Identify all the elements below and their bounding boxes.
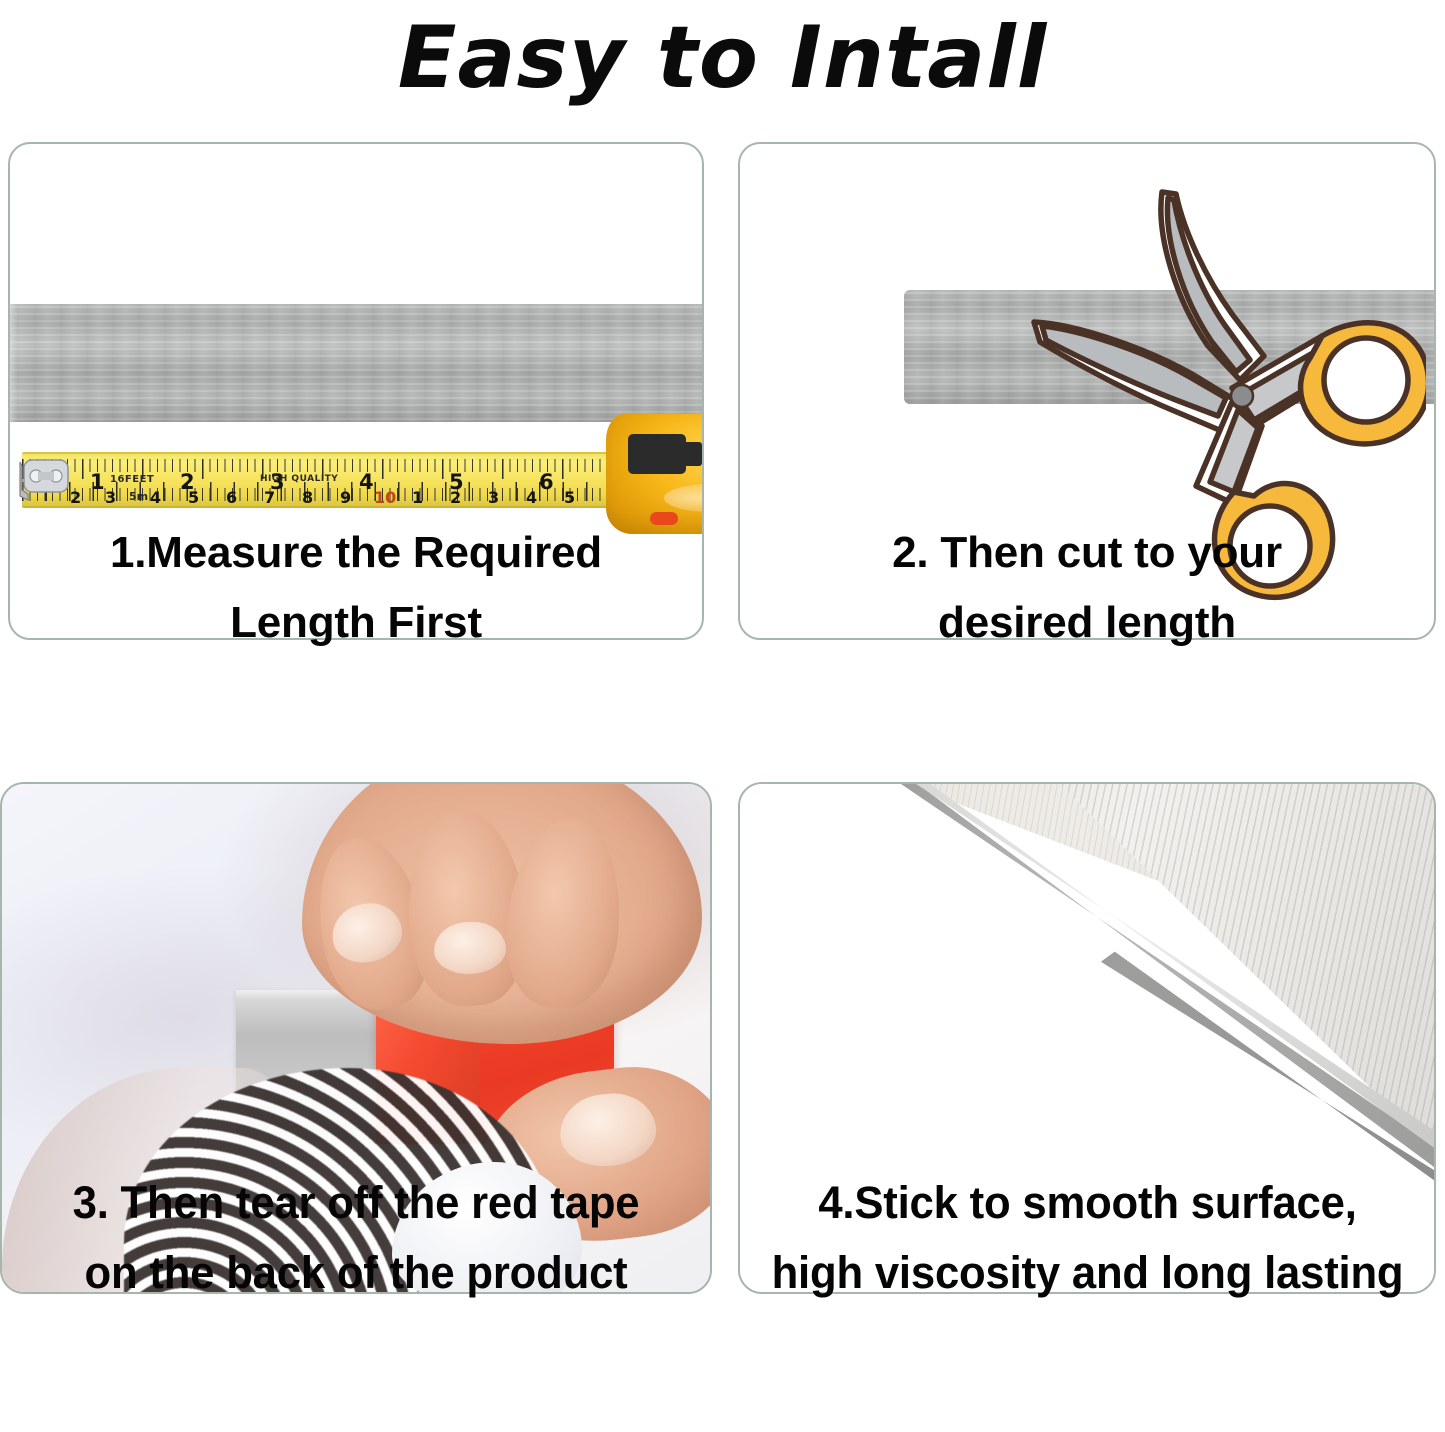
tape-measure-blade: 1 2 3 4 5 6 2 3 4 5 6 7 8 [22, 448, 622, 510]
tape-cm-3: 5 [188, 488, 199, 507]
tape-cm-2: 4 [150, 488, 161, 507]
tape-quality-label: HIGH QUALITY [260, 474, 338, 484]
caption-line: 4.Stick to smooth surface, [741, 1168, 1435, 1238]
tape-cm-12: 4 [526, 488, 537, 507]
tape-hook-icon [16, 450, 74, 506]
tape-lock-button-icon [628, 434, 686, 474]
caption-line: high viscosity and long lasting [741, 1238, 1435, 1308]
page-title: Easy to Intall [0, 2, 1445, 114]
caption-line: 1.Measure the Required [8, 518, 704, 588]
caption-line: 2. Then cut to your [738, 518, 1436, 588]
tape-cm-13: 5 [564, 488, 575, 507]
tape-cm-4: 6 [226, 488, 237, 507]
tape-cm-10: 2 [450, 488, 461, 507]
tape-feet-label: 16FEET [110, 474, 154, 485]
tape-case-sticker [664, 484, 704, 512]
tape-metric-label: 5m [129, 490, 148, 503]
tape-cm-6: 8 [302, 488, 313, 507]
tape-cm-11: 3 [488, 488, 499, 507]
step-4-caption: 4.Stick to smooth surface, high viscosit… [730, 1168, 1445, 1308]
tape-cm-numbers: 2 3 4 5 6 7 8 9 10 1 2 3 4 5 [22, 488, 622, 508]
caption-line: 3. Then tear off the red tape [11, 1168, 702, 1238]
step-3-caption: 3. Then tear off the red tape on the bac… [0, 1168, 712, 1308]
caption-line: on the back of the product [11, 1238, 702, 1308]
tape-cm-7: 9 [340, 488, 351, 507]
caption-line: desired length [738, 588, 1436, 658]
tape-cm-9: 1 [412, 488, 423, 507]
tape-cm-5: 7 [264, 488, 275, 507]
tape-cm-8: 10 [374, 488, 396, 507]
tape-cm-1: 3 [105, 488, 116, 507]
tape-blade-surface: 1 2 3 4 5 6 2 3 4 5 6 7 8 [22, 452, 622, 508]
caption-line: Length First [8, 588, 704, 658]
step-1-caption: 1.Measure the Required Length First [8, 518, 704, 658]
tape-measure-case [606, 414, 704, 534]
step-2-caption: 2. Then cut to your desired length [738, 518, 1436, 658]
gray-trim-strip [8, 304, 704, 422]
